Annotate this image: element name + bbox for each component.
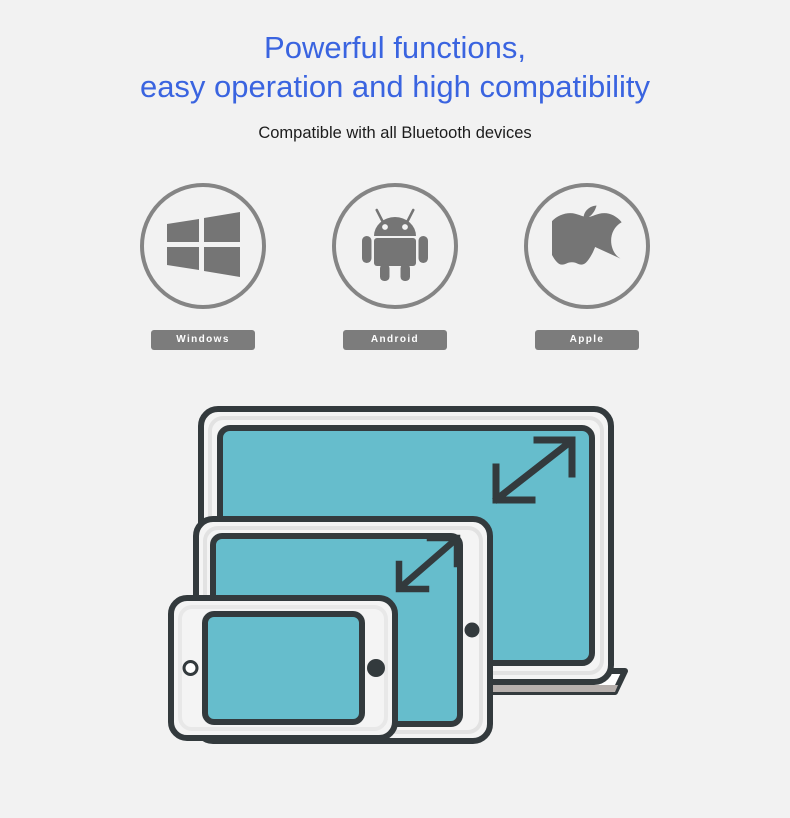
tablet-home-button (465, 623, 480, 638)
android-circle (332, 183, 458, 309)
apple-circle (524, 183, 650, 309)
apple-logo-icon (552, 203, 622, 290)
heading-block: Powerful functions, easy operation and h… (0, 28, 790, 143)
compatibility-item-apple: Apple (507, 183, 667, 350)
apple-label: Apple (535, 330, 639, 350)
windows-label: Windows (151, 330, 255, 350)
multi-device-scaling-illustration (0, 395, 790, 765)
compatibility-item-android: Android (315, 183, 475, 350)
phone-home-button (367, 659, 385, 677)
android-label: Android (343, 330, 447, 350)
compatibility-item-windows: Windows (123, 183, 283, 350)
promo-page: Powerful functions, easy operation and h… (0, 0, 790, 818)
android-robot-icon (359, 205, 431, 288)
compatibility-list: Windows (0, 183, 790, 350)
page-title-line-1: Powerful functions, (0, 28, 790, 67)
windows-circle (140, 183, 266, 309)
windows-logo-icon (164, 209, 242, 284)
phone-device (171, 598, 395, 738)
page-title-line-2: easy operation and high compatibility (0, 67, 790, 106)
page-subtitle: Compatible with all Bluetooth devices (0, 123, 790, 143)
phone-camera-dot (184, 662, 197, 675)
